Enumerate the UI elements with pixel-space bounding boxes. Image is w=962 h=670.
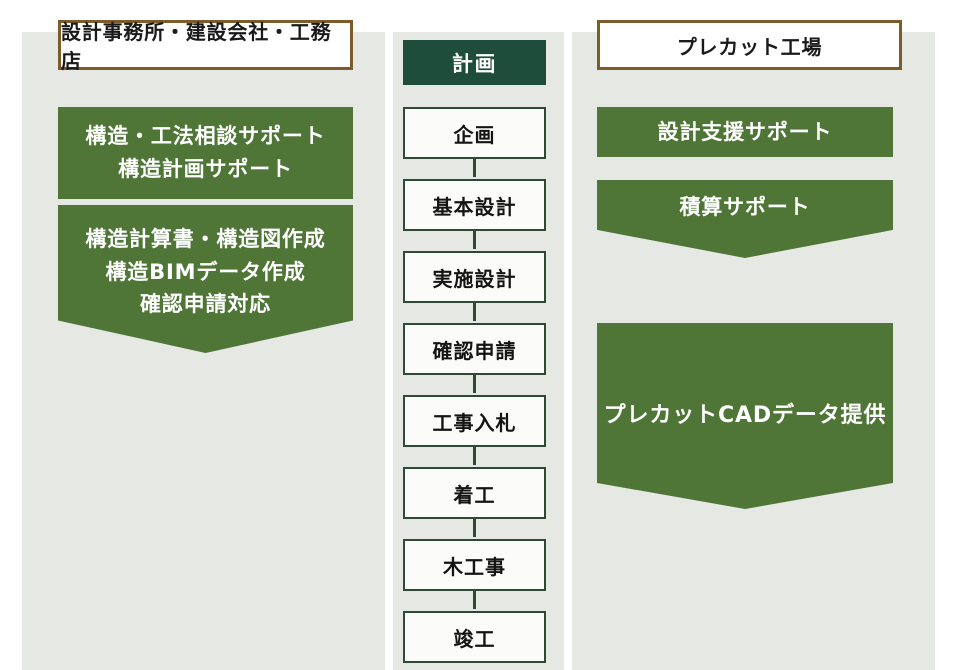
- flow-step-jisshi-sekkei: 実施設計: [403, 251, 546, 303]
- service-line: 確認申請対応: [140, 288, 271, 321]
- left-column-header: 設計事務所・建設会社・工務店: [58, 20, 353, 70]
- flow-step-mokukoji: 木工事: [403, 539, 546, 591]
- workflow-diagram: 設計事務所・建設会社・工務店 構造・工法相談サポート 構造計画サポート 構造計算…: [0, 0, 962, 670]
- service-box-structural-consulting: 構造・工法相談サポート 構造計画サポート: [58, 107, 353, 199]
- service-line: 構造BIMデータ作成: [105, 256, 305, 289]
- flow-step-kakunin-shinsei: 確認申請: [403, 323, 546, 375]
- flow-step-koji-nyusatsu: 工事入札: [403, 395, 546, 447]
- service-line: プレカットCADデータ提供: [604, 399, 887, 433]
- service-box-design-support: 設計支援サポート: [597, 107, 893, 157]
- service-box-precut-cad-data: プレカットCADデータ提供: [597, 323, 893, 509]
- process-flow-column: 企画 基本設計 実施設計 確認申請 工事入札 着工 木工事 竣工: [403, 107, 546, 663]
- service-line: 構造・工法相談サポート: [85, 120, 325, 153]
- service-line: 構造計画サポート: [118, 153, 293, 186]
- flow-step-shunko: 竣工: [403, 611, 546, 663]
- service-line: 設計支援サポート: [658, 116, 833, 149]
- service-line: 構造計算書・構造図作成: [85, 223, 325, 256]
- flow-step-chakko: 着工: [403, 467, 546, 519]
- phase-header-planning: 計画: [403, 40, 546, 85]
- service-line: 積算サポート: [679, 191, 810, 224]
- flow-step-kikaku: 企画: [403, 107, 546, 159]
- right-column-header: プレカット工場: [597, 20, 902, 70]
- flow-step-kihon-sekkei: 基本設計: [403, 179, 546, 231]
